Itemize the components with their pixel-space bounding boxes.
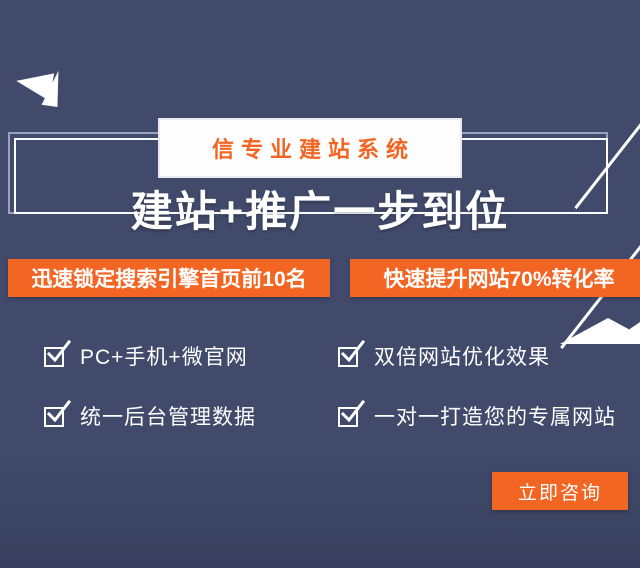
- list-item-label: 一对一打造您的专属网站: [374, 401, 616, 431]
- checkbox-checked-icon: [44, 405, 66, 427]
- consult-now-button[interactable]: 立即咨询: [492, 472, 628, 510]
- paper-plane-tail-icon: [42, 69, 63, 107]
- highlight-bars: 迅速锁定搜索引擎首页前10名 快速提升网站70%转化率: [0, 259, 640, 299]
- list-item: 一对一打造您的专属网站: [330, 392, 640, 440]
- checkbox-checked-icon: [338, 345, 360, 367]
- headline-row: 建站+推广一步到位: [0, 178, 640, 239]
- checkbox-checked-icon: [44, 345, 66, 367]
- eyebrow-text: 信专业建站系统: [205, 132, 415, 164]
- checkbox-checked-icon: [338, 405, 360, 427]
- page-title: 建站+推广一步到位: [117, 178, 524, 239]
- highlight-bar: 迅速锁定搜索引擎首页前10名: [8, 259, 330, 297]
- list-item: 统一后台管理数据: [0, 392, 330, 440]
- promo-banner: 信专业建站系统 建站+推广一步到位 迅速锁定搜索引擎首页前10名 快速提升网站7…: [0, 0, 640, 568]
- list-item-label: 双倍网站优化效果: [374, 341, 550, 371]
- highlight-bar: 快速提升网站70%转化率: [350, 259, 640, 297]
- feature-list: PC+手机+微官网 双倍网站优化效果 统一后台管理数据 一对一打造您的专属网站: [0, 332, 640, 440]
- highlight-bar-text: 快速提升网站70%转化率: [383, 263, 614, 293]
- list-item-label: 统一后台管理数据: [80, 401, 256, 431]
- list-item: 双倍网站优化效果: [330, 332, 640, 380]
- paper-plane-icon: [14, 67, 54, 101]
- eyebrow-label: 信专业建站系统: [160, 120, 460, 176]
- list-item: PC+手机+微官网: [0, 332, 330, 380]
- highlight-bar-text: 迅速锁定搜索引擎首页前10名: [31, 263, 306, 293]
- list-item-label: PC+手机+微官网: [80, 341, 248, 371]
